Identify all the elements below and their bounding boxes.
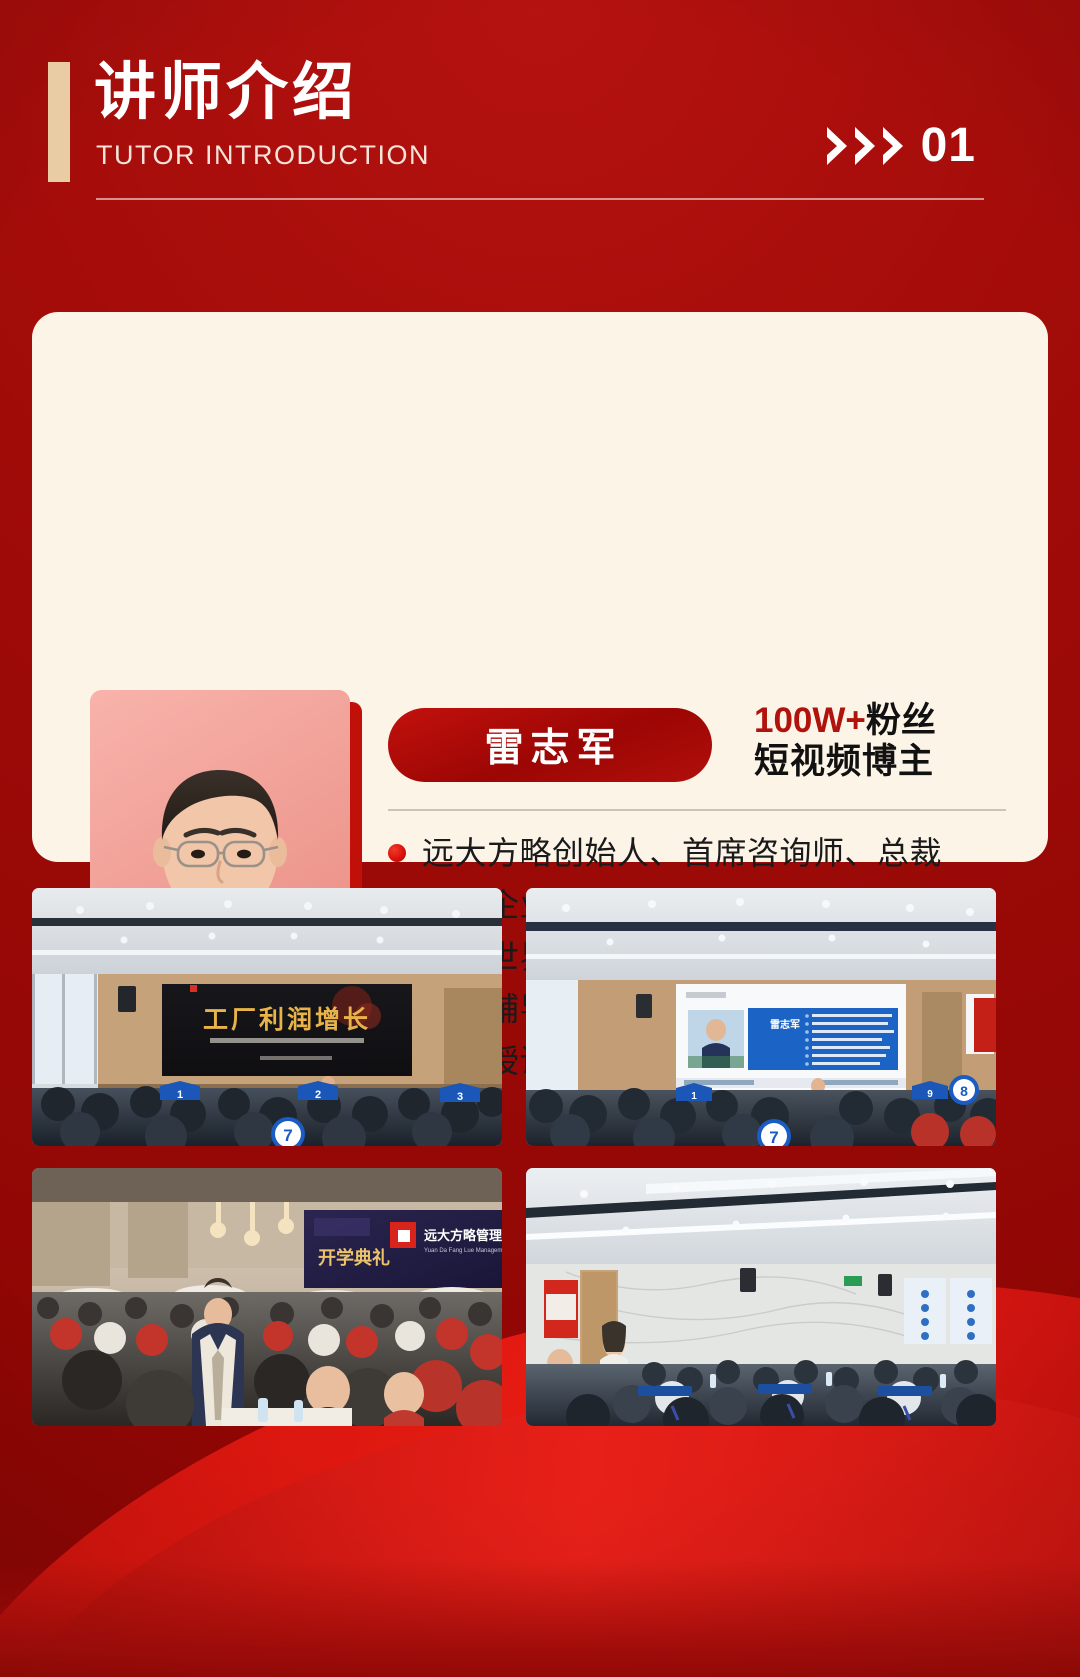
triple-chevron-right-icon xyxy=(825,125,907,167)
svg-text:2: 2 xyxy=(315,1089,321,1101)
svg-text:3: 3 xyxy=(457,1091,463,1103)
page-header: 讲师介绍 TUTOR INTRODUCTION 01 xyxy=(0,0,1080,230)
header-divider xyxy=(96,198,984,200)
section-number: 01 xyxy=(921,122,976,170)
gallery-photo-4 xyxy=(526,1168,996,1426)
fans-count-suffix: 粉丝 xyxy=(866,701,936,740)
svg-text:工厂利润增长: 工厂利润增长 xyxy=(203,1005,371,1034)
credential-text: 远大方略创始人、首席咨询师、总裁 xyxy=(422,830,942,876)
page-title: 讲师介绍 xyxy=(94,62,358,124)
title-accent-bar xyxy=(48,62,70,182)
bullet-dot-icon xyxy=(388,844,406,862)
list-item: 远大方略创始人、首席咨询师、总裁 xyxy=(388,830,1008,882)
svg-text:8: 8 xyxy=(960,1083,968,1099)
tutor-name-badge: 雷志军 xyxy=(388,708,712,782)
svg-text:9: 9 xyxy=(927,1089,933,1100)
svg-text:Yuan Da Fang Lue Management Co: Yuan Da Fang Lue Management Consulting G… xyxy=(424,1248,502,1254)
fans-count-line: 100W+粉丝 xyxy=(754,700,1004,741)
event-photo-gallery: 工厂利润增长 xyxy=(32,888,1048,1426)
page-subtitle: TUTOR INTRODUCTION xyxy=(96,140,430,171)
svg-text:开学典礼: 开学典礼 xyxy=(318,1247,390,1268)
svg-text:7: 7 xyxy=(769,1128,778,1146)
svg-text:7: 7 xyxy=(283,1126,292,1145)
tutor-social-stats: 100W+粉丝 短视频博主 xyxy=(754,700,1004,783)
tutor-name: 雷志军 xyxy=(477,717,622,773)
svg-text:1: 1 xyxy=(691,1091,697,1102)
gallery-photo-3: 开学典礼 远大方略管理咨询集团 Yuan Da Fang Lue Managem… xyxy=(32,1168,502,1426)
svg-text:1: 1 xyxy=(177,1089,183,1101)
svg-text:雷志军: 雷志军 xyxy=(770,1018,800,1031)
section-number-group: 01 xyxy=(825,122,976,170)
card-divider xyxy=(388,809,1006,811)
svg-text:远大方略管理咨询集团: 远大方略管理咨询集团 xyxy=(424,1228,502,1243)
fans-count-value: 100W+ xyxy=(754,701,866,740)
gallery-photo-1: 工厂利润增长 xyxy=(32,888,502,1146)
gallery-photo-2: 雷志军 xyxy=(526,888,996,1146)
tutor-profile-card: 雷志军 100W+粉丝 短视频博主 远大方略创始人、首席咨询师、总裁 实体企业持… xyxy=(32,312,1048,862)
creator-role-label: 短视频博主 xyxy=(754,741,1004,782)
poster-root: 讲师介绍 TUTOR INTRODUCTION 01 xyxy=(0,0,1080,1677)
